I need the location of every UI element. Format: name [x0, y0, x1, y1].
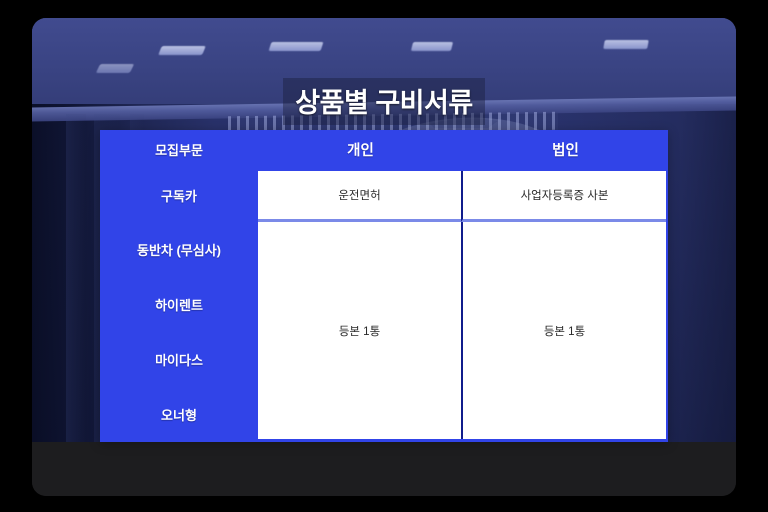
title-container: 상품별 구비서류	[32, 78, 736, 125]
cell-corporate-0: 사업자등록증 사본	[461, 171, 666, 222]
table-row-merged: 등본 1통 등본 1통	[258, 222, 666, 439]
requirements-table: 모집부문 개인 법인 구독카 동반차 (무심사) 하이렌트 마이다스 오너형 운…	[100, 130, 668, 442]
ceiling-light-icon	[96, 64, 134, 73]
table-row: 운전면허 사업자등록증 사본	[258, 171, 666, 222]
cell-corporate-merged: 등본 1통	[461, 222, 666, 439]
cell-individual-merged: 등본 1통	[258, 222, 461, 439]
table-body: 구독카 동반차 (무심사) 하이렌트 마이다스 오너형 운전면허 사업자등록증 …	[100, 168, 668, 442]
table-row-label-2: 하이렌트	[100, 277, 258, 332]
table-row-label-4: 오너형	[100, 387, 258, 442]
table-row-label-3: 마이다스	[100, 332, 258, 387]
table-row-label-0: 구독카	[100, 168, 258, 222]
table-header-corporate: 법인	[463, 130, 668, 168]
table-label-column: 구독카 동반차 (무심사) 하이렌트 마이다스 오너형	[100, 168, 258, 442]
page-title: 상품별 구비서류	[283, 78, 484, 125]
slide-canvas: NACARLIFE.COM 상품별 구비서류 모집부문 개인 법인 구독카 동반…	[0, 0, 768, 512]
ceiling-light-icon	[603, 40, 649, 49]
table-header-individual: 개인	[258, 130, 463, 168]
presentation-frame: NACARLIFE.COM 상품별 구비서류 모집부문 개인 법인 구독카 동반…	[32, 18, 736, 496]
cell-individual-0: 운전면허	[258, 171, 461, 222]
table-header-category: 모집부문	[100, 130, 258, 168]
table-header-row: 모집부문 개인 법인	[100, 130, 668, 168]
table-value-grid: 운전면허 사업자등록증 사본 등본 1통 등본 1통	[258, 168, 668, 442]
table-row-label-1: 동반차 (무심사)	[100, 222, 258, 277]
ceiling-light-icon	[411, 42, 453, 51]
ceiling-light-icon	[269, 42, 324, 51]
bottom-panel	[32, 442, 736, 496]
wall-pillar	[66, 114, 86, 442]
ceiling-light-icon	[158, 46, 206, 55]
